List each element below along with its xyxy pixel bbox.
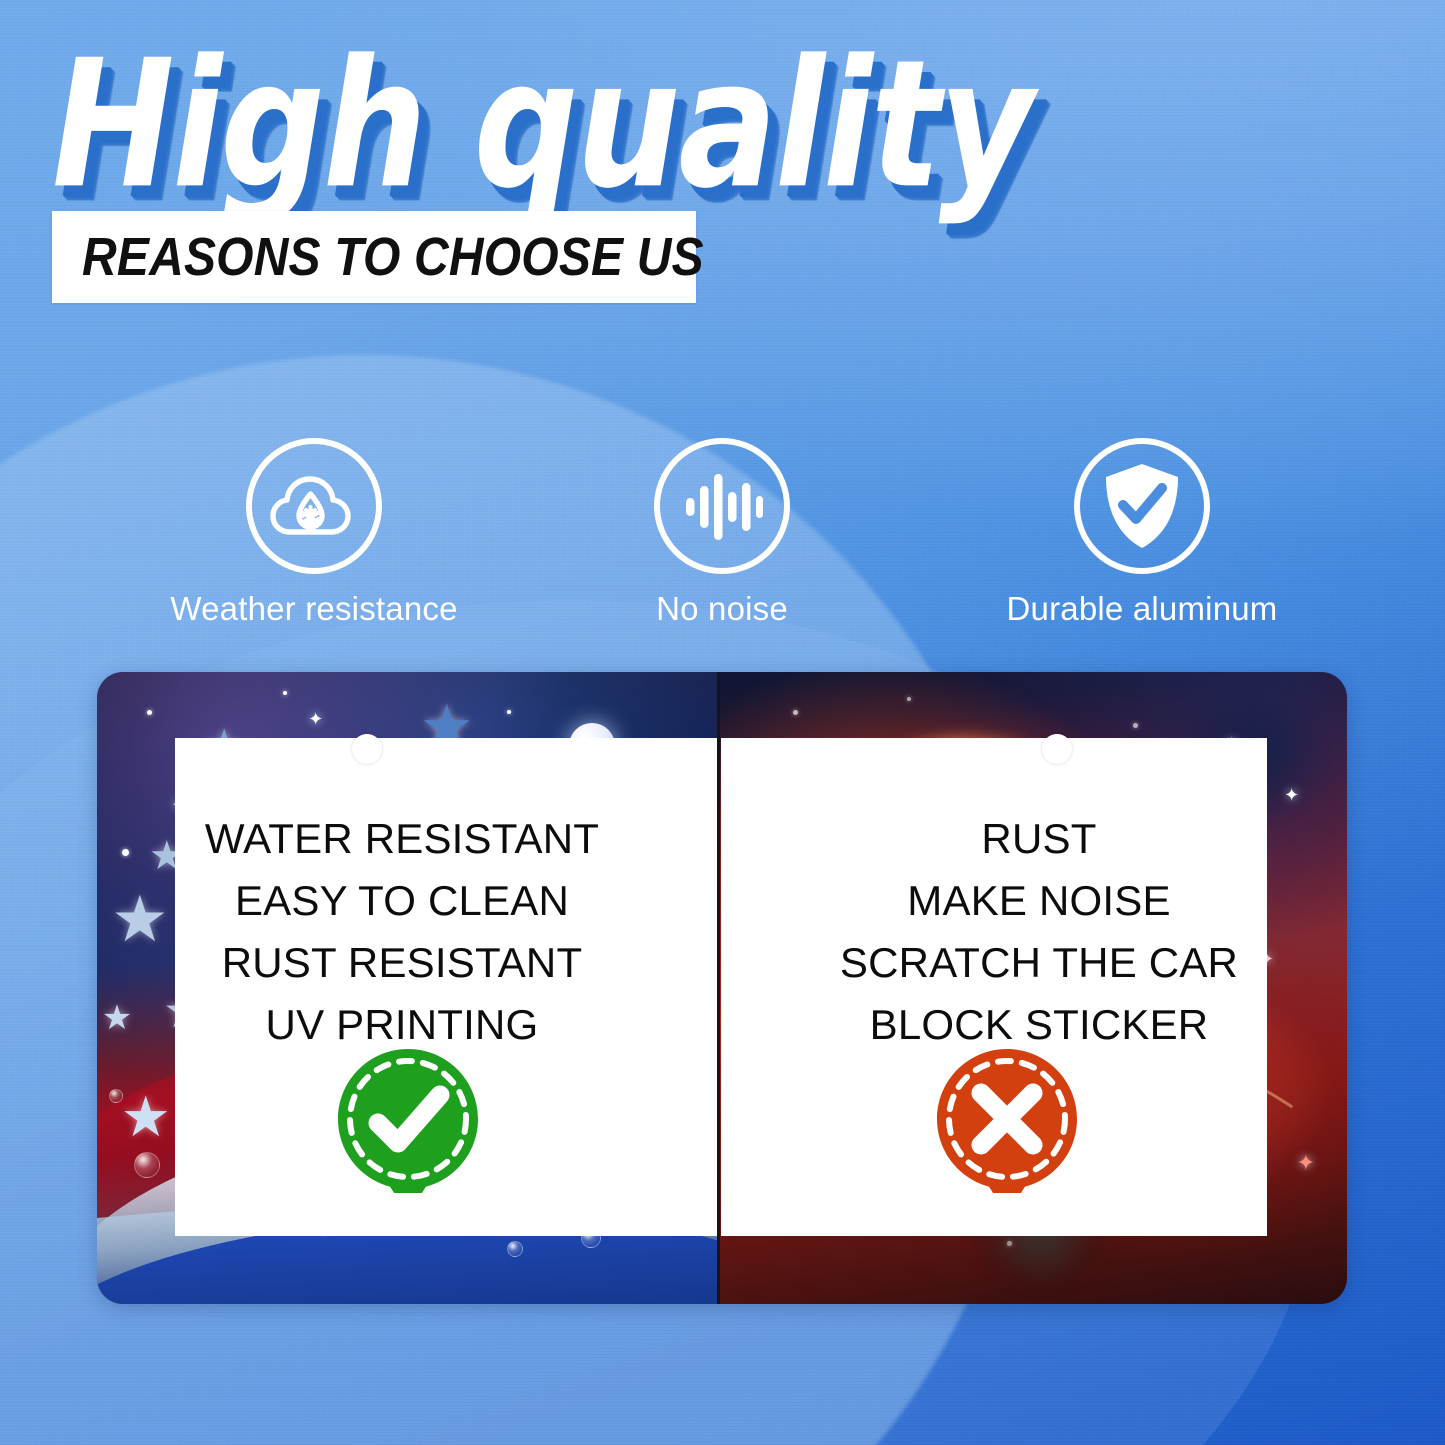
pros-list: WATER RESISTANT EASY TO CLEAN RUST RESIS… bbox=[97, 808, 707, 1056]
feature-weather-resistance: Weather resistance bbox=[144, 438, 484, 628]
art-water-droplet bbox=[507, 1241, 523, 1257]
feature-label: Weather resistance bbox=[144, 590, 484, 628]
headline-block: High quality bbox=[52, 38, 1062, 208]
list-item: WATER RESISTANT bbox=[97, 808, 707, 870]
list-item: MAKE NOISE bbox=[734, 870, 1344, 932]
feature-no-noise: No noise bbox=[572, 438, 872, 628]
feature-icon-ring bbox=[654, 438, 790, 574]
cons-list: RUST MAKE NOISE SCRATCH THE CAR BLOCK ST… bbox=[734, 808, 1344, 1056]
feature-durable-aluminum: Durable aluminum bbox=[956, 438, 1328, 628]
art-sparkle: ✦ bbox=[1284, 786, 1299, 804]
feature-icon-ring bbox=[246, 438, 382, 574]
red-x-pin-icon bbox=[933, 1045, 1081, 1193]
art-speck bbox=[907, 697, 911, 701]
list-item: EASY TO CLEAN bbox=[97, 870, 707, 932]
mounting-hole-right bbox=[1042, 734, 1072, 764]
feature-row: Weather resistance No noise bbox=[88, 438, 1378, 638]
list-item: SCRATCH THE CAR bbox=[734, 932, 1344, 994]
infographic-canvas: High quality REASONS TO CHOOSE US bbox=[0, 0, 1445, 1445]
panel-divider bbox=[717, 672, 720, 1304]
art-speck bbox=[507, 710, 511, 714]
feature-icon-ring bbox=[1074, 438, 1210, 574]
feature-label: No noise bbox=[572, 590, 872, 628]
shield-check-icon bbox=[1100, 460, 1184, 552]
feature-label: Durable aluminum bbox=[956, 590, 1328, 628]
subtitle-text: REASONS TO CHOOSE US bbox=[52, 226, 704, 288]
green-check-pin-icon bbox=[334, 1045, 482, 1193]
list-item: RUST RESISTANT bbox=[97, 932, 707, 994]
art-sparkle: ✦ bbox=[1297, 1152, 1315, 1174]
art-sparkle: ✦ bbox=[308, 710, 323, 728]
list-item: RUST bbox=[734, 808, 1344, 870]
subtitle-banner: REASONS TO CHOOSE US bbox=[52, 211, 696, 303]
mounting-hole-left bbox=[352, 734, 382, 764]
cloud-droplet-snowflake-icon bbox=[266, 466, 362, 546]
sound-wave-icon bbox=[680, 464, 764, 548]
art-speck bbox=[147, 710, 152, 715]
page-title: High quality bbox=[52, 38, 1133, 212]
art-speck bbox=[1133, 723, 1138, 728]
